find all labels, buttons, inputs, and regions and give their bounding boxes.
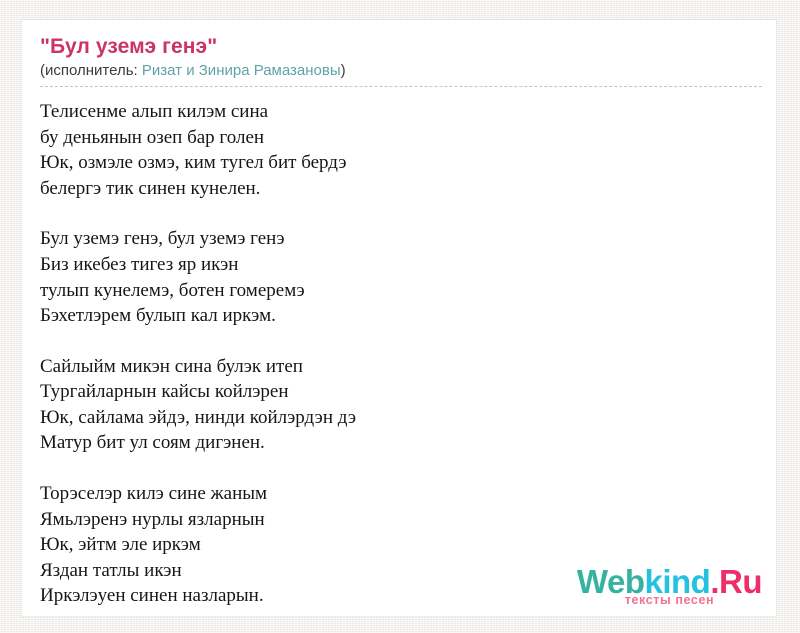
lyrics-line: Матур бит ул соям дигэнен. <box>40 430 762 456</box>
lyrics-stanza: Сайлыйм микэн сина булэк итепТургайларны… <box>40 354 762 456</box>
lyrics-line: тулып кунелемэ, ботен гомеремэ <box>40 278 762 304</box>
sheet-content: "Бул уземэ генэ" (исполнитель: Ризат и З… <box>40 34 762 609</box>
performer-paren-close: ) <box>341 62 346 79</box>
lyrics-line: Юк, эйтм эле иркэм <box>40 532 762 558</box>
performer-line: (исполнитель: Ризат и Зинира Рамазановы) <box>40 62 762 87</box>
lyrics-line: Ямьлэренэ нурлы язларнын <box>40 507 762 533</box>
lyrics-line: Сайлыйм микэн сина булэк итеп <box>40 354 762 380</box>
lyrics-line: Торэселэр килэ сине жаным <box>40 481 762 507</box>
lyrics-line: белергэ тик синен кунелен. <box>40 176 762 202</box>
lyrics-line: Телисенме алып килэм сина <box>40 99 762 125</box>
lyrics-body: Телисенме алып килэм синабу деньянын озе… <box>40 99 762 609</box>
lyrics-line: Биз икебез тигез яр икэн <box>40 252 762 278</box>
lyrics-sheet: "Бул уземэ генэ" (исполнитель: Ризат и З… <box>22 20 776 616</box>
performer-label: (исполнитель: <box>40 62 138 79</box>
lyrics-line: Бэхетлэрем булып кал иркэм. <box>40 303 762 329</box>
logo-part-ru: Ru <box>719 563 762 600</box>
lyrics-line: Тургайларнын кайсы койлэрен <box>40 379 762 405</box>
lyrics-stanza: Телисенме алып килэм синабу деньянын озе… <box>40 99 762 201</box>
lyrics-line: Бул уземэ генэ, бул уземэ генэ <box>40 226 762 252</box>
lyrics-stanza: Бул уземэ генэ, бул уземэ генэБиз икебез… <box>40 226 762 328</box>
page-root: "Бул уземэ генэ" (исполнитель: Ризат и З… <box>0 0 800 633</box>
lyrics-line: Юк, сайлама эйдэ, нинди койлэрдэн дэ <box>40 405 762 431</box>
performer-link[interactable]: Ризат и Зинира Рамазановы <box>142 62 341 79</box>
lyrics-line: Юк, озмэле озмэ, ким тугел бит бердэ <box>40 150 762 176</box>
webkind-logo[interactable]: Webkind.Ru тексты песен <box>577 565 762 607</box>
lyrics-line: бу деньянын озеп бар голен <box>40 125 762 151</box>
page-title: "Бул уземэ генэ" <box>40 34 762 62</box>
